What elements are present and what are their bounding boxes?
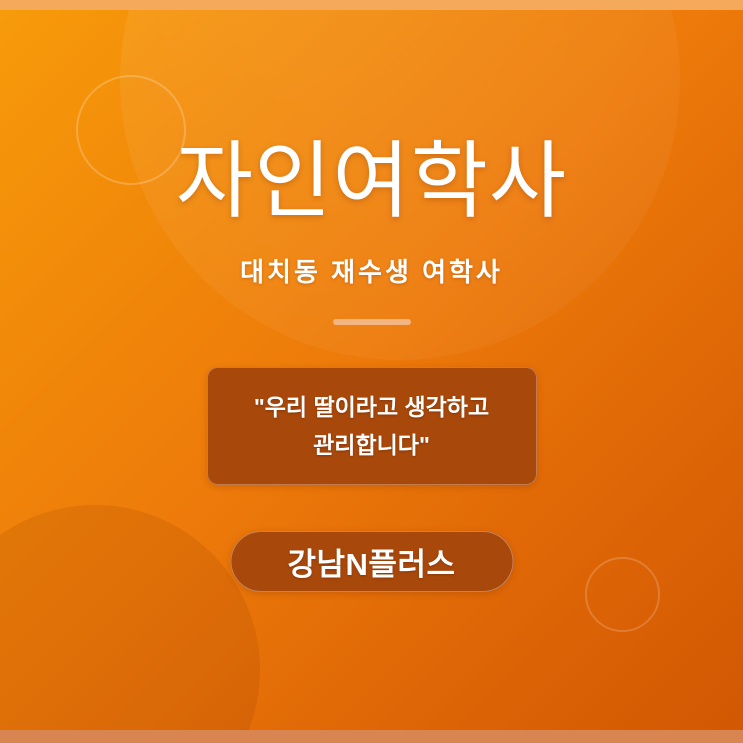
promo-poster: 자인여학사 대치동 재수생 여학사 "우리 딸이라고 생각하고 관리합니다" 강…: [0, 0, 743, 743]
brand-button-label: 강남N플러스: [288, 539, 456, 584]
title-divider: [333, 319, 411, 325]
quote-line-1: "우리 딸이라고 생각하고: [254, 390, 489, 425]
page-title: 자인여학사: [0, 137, 743, 225]
quote-line-2: 관리합니다": [313, 428, 430, 463]
poster-content: 자인여학사 대치동 재수생 여학사 "우리 딸이라고 생각하고 관리합니다" 강…: [0, 0, 743, 743]
brand-button[interactable]: 강남N플러스: [230, 531, 513, 592]
page-subtitle: 대치동 재수생 여학사: [0, 252, 743, 289]
quote-card: "우리 딸이라고 생각하고 관리합니다": [207, 367, 537, 485]
